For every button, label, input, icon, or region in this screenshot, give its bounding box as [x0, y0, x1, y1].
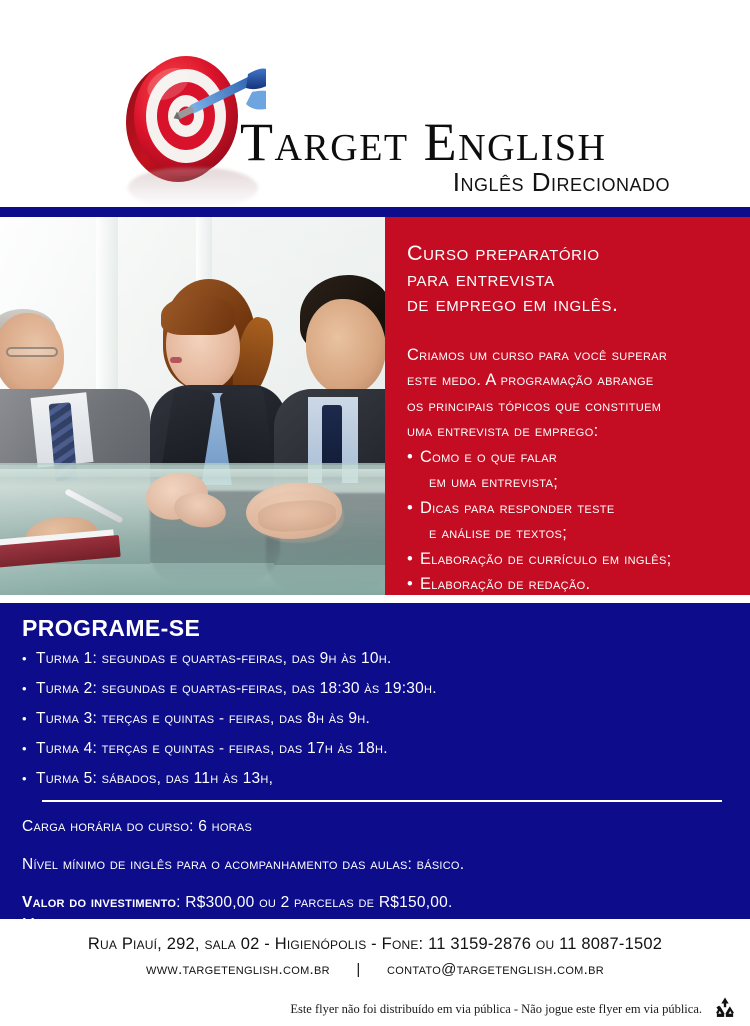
price-value: : R$300,00 ou 2 parcelas de R$150,00. — [176, 894, 452, 911]
list-item: em uma entrevista; — [407, 470, 734, 496]
page-title: Target English — [240, 114, 710, 170]
header-section: Target English Inglês Direcionado — [0, 0, 750, 207]
course-description-line-4: uma entrevista de emprego: — [407, 419, 734, 445]
course-description: Criamos um curso para você superar este … — [407, 343, 734, 445]
list-item: Turma 2: segundas e quartas-feiras, das … — [22, 680, 730, 697]
website-link[interactable]: www.targetenglish.com.br — [146, 961, 330, 978]
price-line: Valor do investimento: R$300,00 ou 2 par… — [22, 894, 730, 912]
recycle-svg — [712, 995, 738, 1021]
course-workload: Carga horária do curso: 6 horas — [22, 818, 730, 836]
schedule-section: PROGRAME-SE Turma 1: segundas e quartas-… — [0, 603, 750, 919]
price-label: Valor do investimento — [22, 894, 176, 911]
course-description-line-3: os principais tópicos que constituem — [407, 394, 734, 420]
course-headline: Curso preparatório para entrevista de em… — [407, 241, 734, 318]
class-schedule-list: Turma 1: segundas e quartas-feiras, das … — [22, 650, 730, 787]
photo-sheen — [0, 217, 385, 595]
list-item: e análise de textos; — [407, 521, 734, 547]
course-headline-line-1: Curso preparatório — [407, 241, 734, 267]
footer-section: Rua Piauí, 292, sala 02 - Higienópolis -… — [0, 919, 750, 1026]
course-description-line-1: Criamos um curso para você superar — [407, 343, 734, 369]
course-description-line-2: este medo. A programação abrange — [407, 368, 734, 394]
section-gap — [0, 595, 750, 603]
header-divider — [0, 207, 750, 217]
list-item: Turma 3: terças e quintas - feiras, das … — [22, 710, 730, 727]
list-item: Dicas para responder teste — [407, 496, 734, 522]
course-topics-list: Como e o que falar em uma entrevista; Di… — [407, 445, 734, 598]
contact-links: www.targetenglish.com.br | contato@targe… — [0, 961, 750, 978]
course-level: Nível mínimo de inglês para o acompanham… — [22, 856, 730, 874]
list-item: Elaboração de currículo em inglês; — [407, 547, 734, 573]
flyer-disclaimer: Este flyer não foi distribuído em via pú… — [290, 1002, 702, 1017]
course-headline-line-3: de emprego em inglês. — [407, 292, 734, 318]
email-link[interactable]: contato@targetenglish.com.br — [387, 961, 604, 978]
list-item: Turma 1: segundas e quartas-feiras, das … — [22, 650, 730, 667]
logo-reflection — [128, 168, 258, 208]
list-item: Elaboração de redação. — [407, 572, 734, 598]
schedule-divider — [42, 800, 722, 802]
brand-subtitle: Inglês Direcionado — [240, 168, 670, 196]
list-item: Como e o que falar — [407, 445, 734, 471]
contact-address: Rua Piauí, 292, sala 02 - Higienópolis -… — [0, 935, 750, 954]
hero-band: Curso preparatório para entrevista de em… — [0, 217, 750, 595]
flyer-page: Target English Inglês Direcionado — [0, 0, 750, 1026]
list-item: Turma 4: terças e quintas - feiras, das … — [22, 740, 730, 757]
link-separator: | — [334, 961, 382, 978]
list-item: Turma 5: sábados, das 11h às 13h, — [22, 770, 730, 787]
course-highlight-panel: Curso preparatório para entrevista de em… — [385, 217, 750, 595]
schedule-title: PROGRAME-SE — [22, 615, 730, 642]
course-headline-line-2: para entrevista — [407, 267, 734, 293]
interview-photo — [0, 217, 385, 595]
recycling-symbol-icon — [712, 995, 738, 1021]
